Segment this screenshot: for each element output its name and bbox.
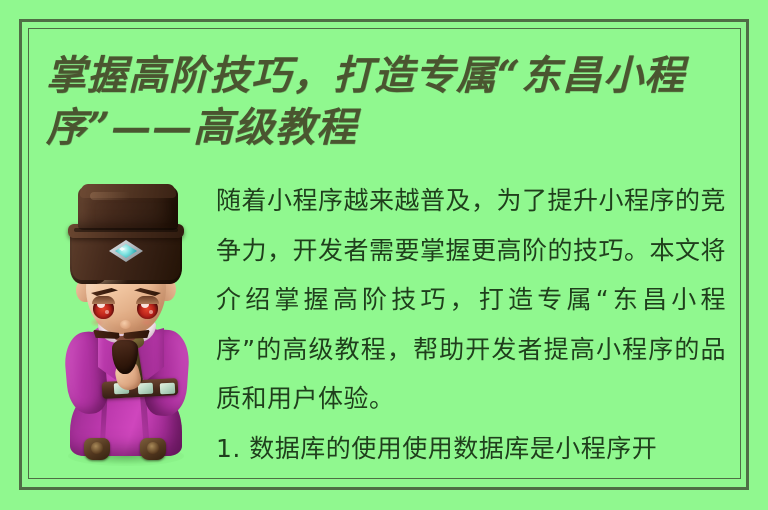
cheek-blush-right: [140, 318, 154, 327]
eye-highlight-small: [105, 310, 109, 314]
cheek-blush-left: [90, 318, 104, 327]
character-illustration: [46, 184, 206, 476]
page-title: 掌握高阶技巧，打造专属“东昌小程序”——高级教程: [46, 50, 736, 154]
belt-jade-plaque: [160, 383, 176, 395]
article-paragraph-2: 1. 数据库的使用使用数据库是小程序开: [216, 424, 726, 474]
poster-card: 掌握高阶技巧，打造专属“东昌小程序”——高级教程: [0, 0, 768, 510]
hat-seam: [74, 228, 178, 232]
eyelid-left: [92, 296, 115, 304]
eye-highlight-small: [149, 310, 153, 314]
eyelid-right: [136, 296, 159, 304]
nose: [120, 320, 131, 329]
belt-jade-plaque: [138, 383, 154, 395]
boot-knot-left: [91, 442, 103, 454]
article-paragraph-1: 随着小程序越来越普及，为了提升小程序的竞争力，开发者需要掌握更高阶的技巧。本文将…: [216, 176, 726, 424]
article-body: 随着小程序越来越普及，为了提升小程序的竞争力，开发者需要掌握更高阶的技巧。本文将…: [216, 176, 726, 473]
boot-knot-right: [147, 442, 159, 454]
hat-highlight: [90, 192, 130, 200]
